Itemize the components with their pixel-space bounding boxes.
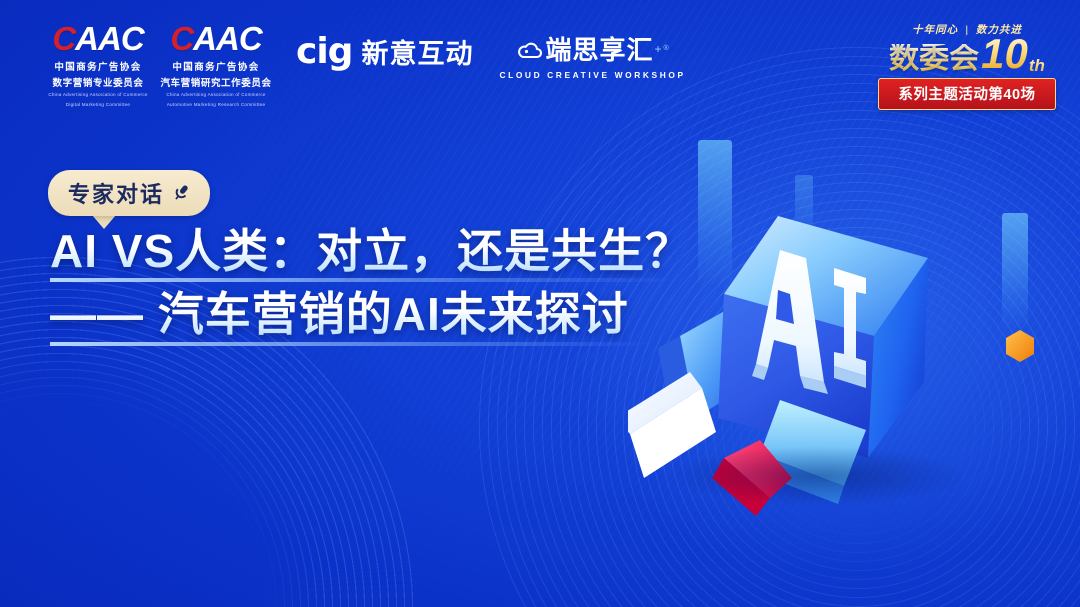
orange-hexagon-icon [1006,330,1034,362]
tag-label: 专家对话 [68,177,164,209]
badge-anniversary-number: 10 [981,35,1028,74]
caac-en-line2: Digital Marketing Committee [42,102,154,109]
badge-main-row: 数委会 10 th [878,35,1056,74]
cig-cn-name: 新意互动 [361,32,473,71]
title-line-2: —— 汽车营销的AI未来探讨 [50,285,692,343]
ai-cube-graphic [628,186,1048,546]
badge-anniversary-suffix: th [1029,57,1045,74]
microphone-icon [170,182,192,204]
caac-letter-c: C [52,20,75,57]
logo-caac-automotive-marketing: CAAC 中国商务广告协会 汽车营销研究工作委员会 China Advertis… [160,22,272,109]
badge-subtitle-left: 十年同心 [912,24,958,36]
partner-logo-row: CAAC 中国商务广告协会 数字营销专业委员会 China Advertisin… [42,22,686,109]
cube-shadow [668,446,968,506]
anniversary-badge: 十年同心 | 数力共进 数委会 10 th 系列主题活动第40场 [878,22,1056,110]
caac-cn-line2: 汽车营销研究工作委员会 [160,75,272,89]
poster-title: AI VS人类：对立，还是共生？ —— 汽车营销的AI未来探讨 [50,222,692,349]
event-poster: CAAC 中国商务广告协会 数字营销专业委员会 China Advertisin… [0,0,1080,607]
cloud-plus-mark: + [654,42,661,56]
badge-subtitle-divider: | [965,24,969,36]
cloud-icon [516,38,542,60]
caac-letters-aac: AAC [75,20,144,57]
badge-organization-name: 数委会 [889,44,979,74]
caac-en-line1: China Advertising Association of Commerc… [42,92,154,99]
caac-cn-line1: 中国商务广告协会 [160,59,272,73]
cloud-logo-top: 端思享汇 + ® [499,30,685,67]
cloud-cn-name: 端思享汇 [545,30,653,67]
caac-letters-aac: AAC [193,20,262,57]
caac-cn-line1: 中国商务广告协会 [42,59,154,73]
caac-wordmark: CAAC [42,22,154,55]
caac-letter-c: C [170,20,193,57]
logo-caac-digital-marketing: CAAC 中国商务广告协会 数字营销专业委员会 China Advertisin… [42,22,154,109]
cloud-en-name: CLOUD CREATIVE WORKSHOP [499,70,685,80]
cig-wordmark: cig [296,34,352,70]
caac-wordmark: CAAC [160,22,272,55]
logo-cig: cig 新意互动 [296,32,473,71]
caac-en-line2: Automotive Marketing Research Committee [160,102,272,109]
logo-cloud-creative-workshop: 端思享汇 + ® CLOUD CREATIVE WORKSHOP [499,30,685,80]
registered-trademark-icon: ® [663,45,668,52]
badge-session-ribbon: 系列主题活动第40场 [878,78,1056,110]
expert-dialogue-tag: 专家对话 [48,170,210,229]
caac-cn-line2: 数字营销专业委员会 [42,75,154,89]
caac-en-line1: China Advertising Association of Commerc… [160,92,272,99]
tag-bubble: 专家对话 [48,170,210,216]
title-line-1: AI VS人类：对立，还是共生？ [50,222,692,280]
